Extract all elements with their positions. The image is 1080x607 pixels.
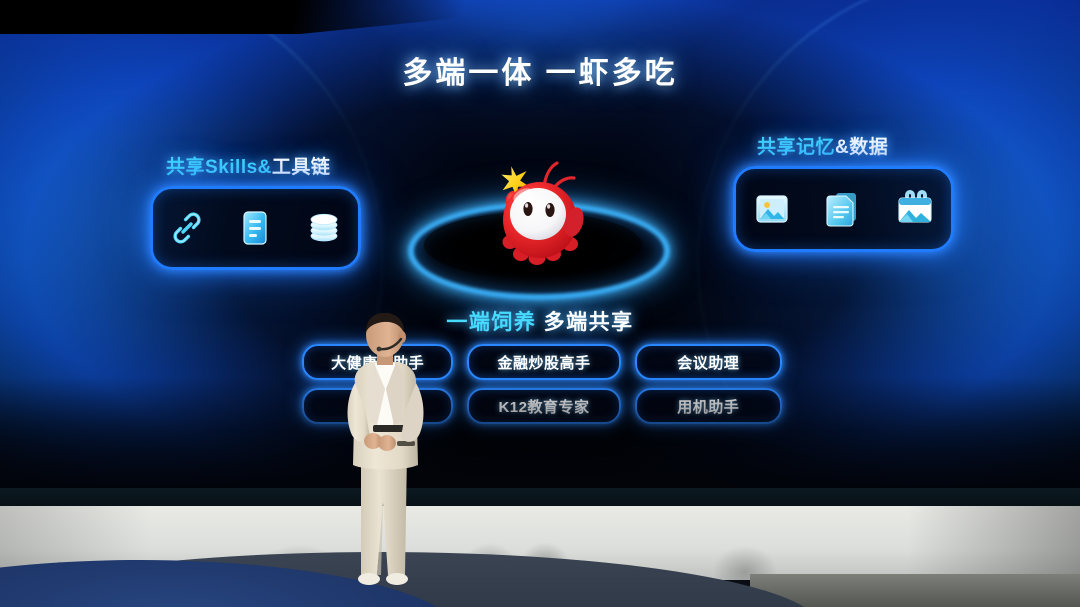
left-panel-label-part2: Skills& — [205, 157, 272, 178]
tag-finance-expert[interactable]: 金融炒股高手 — [467, 344, 620, 380]
database-icon[interactable] — [297, 200, 351, 256]
subtitle-rest: 多端共享 — [536, 311, 633, 334]
red-shrimp-mascot[interactable] — [484, 148, 590, 270]
stage-floor — [0, 488, 1080, 607]
tag-meeting-assistant[interactable]: 会议助理 — [635, 344, 782, 380]
slide-title: 多端一体 一虾多吃 — [0, 48, 1080, 92]
left-panel-label-part3: 工具链 — [272, 157, 331, 178]
shared-skills-panel[interactable] — [150, 186, 361, 270]
presentation-photo: 多端一体 一虾多吃 共享Skills&工具链 — [0, 0, 1080, 607]
document-icon[interactable] — [228, 200, 282, 256]
right-panel-label: 共享记忆&数据 — [757, 132, 888, 159]
link-icon[interactable] — [160, 200, 214, 256]
left-panel-label: 共享Skills&工具链 — [166, 152, 330, 179]
slide-subtitle: 一端饲养 多端共享 — [0, 306, 1080, 336]
floor-right-strip — [750, 574, 1080, 607]
subtitle-highlight: 一端饲养 — [446, 311, 536, 334]
presenter-person — [325, 313, 445, 591]
right-panel-label-part1: 共享记忆 — [757, 137, 835, 158]
calendar-icon[interactable] — [888, 181, 942, 237]
document-stack-icon[interactable] — [816, 181, 870, 237]
led-screen: 多端一体 一虾多吃 共享Skills&工具链 — [0, 0, 1080, 497]
left-panel-label-part1: 共享 — [166, 157, 205, 178]
mascot-stage — [398, 140, 668, 290]
image-icon[interactable] — [745, 181, 799, 237]
shared-memory-panel[interactable] — [733, 166, 954, 252]
screen-bottom-fade — [0, 377, 1080, 497]
right-panel-label-part2: &数据 — [835, 137, 888, 158]
